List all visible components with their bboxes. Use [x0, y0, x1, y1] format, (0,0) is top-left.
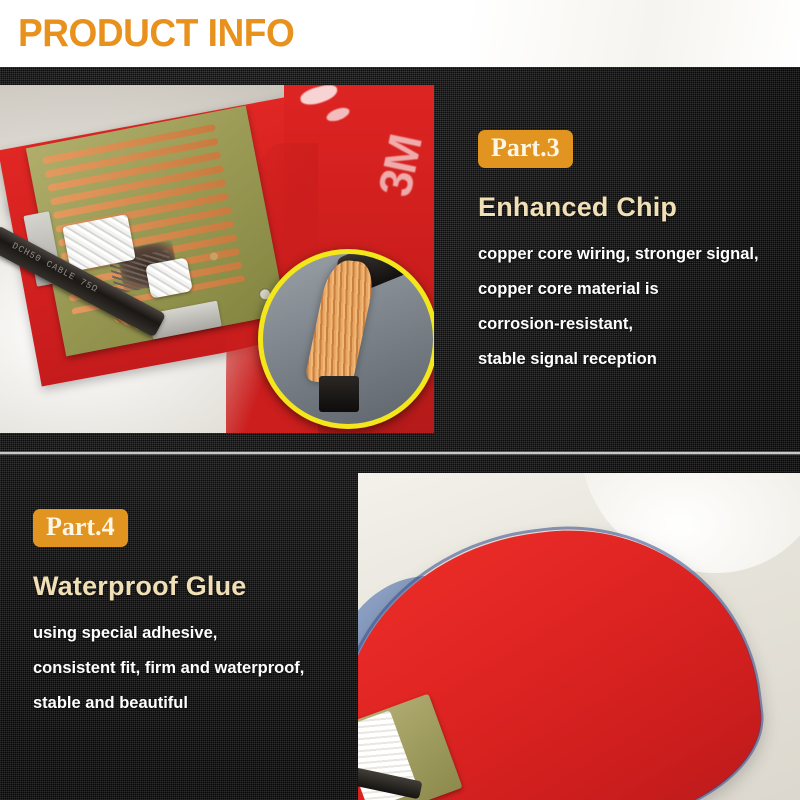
page-header: PRODUCT INFO	[0, 0, 800, 67]
section-part-3: Part.3 Enhanced Chip copper core wiring,…	[478, 130, 794, 385]
body-line: copper core material is	[478, 280, 794, 299]
product-info-infographic: PRODUCT INFO 3M DCH50 CAB	[0, 0, 800, 800]
inset-copper-braid	[304, 259, 378, 386]
body-line: using special adhesive,	[33, 624, 353, 643]
section-body-part-4: using special adhesive, consistent fit, …	[33, 624, 353, 713]
section-divider	[0, 451, 800, 455]
section-body-part-3: copper core wiring, stronger signal, cop…	[478, 245, 794, 369]
body-line: consistent fit, firm and waterproof,	[33, 659, 353, 678]
badge-part-4: Part.4	[33, 509, 128, 547]
photo-waterproof-glue	[358, 473, 800, 800]
section-title-part-4: Waterproof Glue	[33, 571, 353, 602]
section-part-4: Part.4 Waterproof Glue using special adh…	[33, 509, 353, 729]
body-line: copper core wiring, stronger signal,	[478, 245, 794, 264]
body-line: stable signal reception	[478, 350, 794, 369]
body-line: corrosion-resistant,	[478, 315, 794, 334]
inset-cable-jacket-bottom	[319, 376, 359, 412]
page-title: PRODUCT INFO	[18, 12, 294, 56]
badge-part-3: Part.3	[478, 130, 573, 168]
body-line: stable and beautiful	[33, 694, 353, 713]
photo-enhanced-chip: 3M DCH50 CABLE 75Ω	[0, 85, 434, 433]
section-title-part-3: Enhanced Chip	[478, 192, 794, 223]
header-gradient	[470, 0, 800, 67]
film-print-label: 3M	[371, 132, 428, 200]
photo-magnifier-inset	[258, 249, 434, 429]
